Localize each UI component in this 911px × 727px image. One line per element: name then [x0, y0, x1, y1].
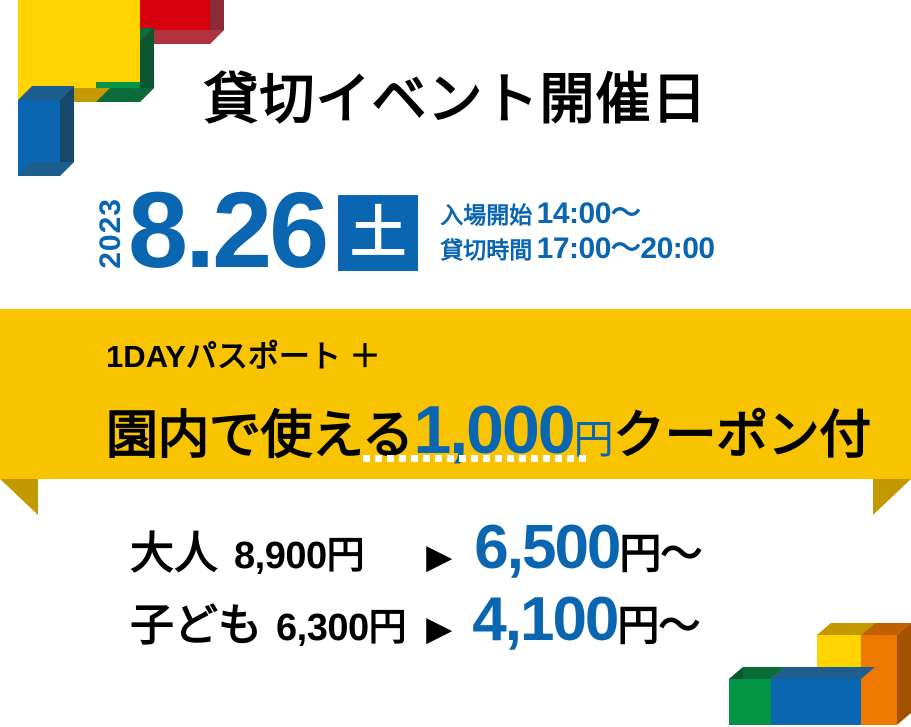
coupon-suffix-text: クーポン付	[613, 407, 871, 465]
schedule-label-private: 貸切時間	[440, 237, 532, 263]
coupon-amount-underline	[363, 455, 591, 462]
price-who-child: 子ども	[130, 589, 262, 653]
block-green-top	[96, 28, 154, 42]
pricing-table: 大人 8,900円 ▶ 6,500円～ 子ども 6,300円 ▶ 4,100円～	[130, 512, 701, 656]
schedule-value-entry: 14:00～	[537, 197, 641, 230]
event-weekday-badge: 土	[338, 195, 418, 271]
page-title: 貸切イベント開催日	[0, 72, 911, 127]
price-old-child: 6,300円	[276, 596, 406, 651]
schedule-value-private: 17:00～20:00	[537, 232, 715, 265]
block-orange-face	[861, 635, 897, 725]
price-new-child: 4,100	[472, 584, 617, 655]
schedule-label-entry: 入場開始	[440, 202, 532, 228]
schedule-line-entry: 入場開始 14:00～	[440, 197, 714, 232]
block-blue-top-br	[771, 667, 875, 679]
price-arrow-icon-child: ▶	[426, 612, 452, 646]
block-yellow-face-br	[817, 635, 861, 679]
bottom-right-block-decoration	[721, 617, 911, 727]
block-blue-face-br	[771, 679, 861, 725]
ribbon-tail-left	[0, 479, 38, 515]
block-green-side-br	[729, 667, 743, 725]
block-red-bottom	[140, 30, 224, 44]
price-row-adult: 大人 8,900円 ▶ 6,500円～	[130, 512, 701, 584]
block-orange-side	[897, 623, 911, 725]
price-row-child: 子ども 6,300円 ▶ 4,100円～	[130, 584, 701, 656]
schedule-line-private: 貸切時間 17:00～20:00	[440, 232, 714, 267]
promo-poster: 貸切イベント開催日 2023 8.26 土 入場開始 14:00～ 貸切時間 1…	[0, 0, 911, 727]
ribbon-passport-label: 1DAYパスポート ＋	[106, 341, 380, 372]
event-month-day: 8.26	[128, 186, 326, 275]
event-year: 2023	[96, 198, 126, 269]
block-blue-bottom	[18, 162, 74, 176]
price-arrow-icon-adult: ▶	[426, 540, 452, 574]
block-orange-top	[861, 623, 911, 635]
ribbon-coupon-line: 園内で使える1,000円クーポン付	[106, 396, 871, 464]
price-who-adult: 大人	[130, 517, 218, 581]
event-schedule: 入場開始 14:00～ 貸切時間 17:00～20:00	[440, 197, 714, 267]
block-green-face-br	[729, 679, 771, 725]
block-green-top-br	[729, 667, 785, 679]
block-red-side	[210, 0, 224, 44]
ribbon-tail-right	[873, 479, 911, 515]
price-new-unit-adult: 円～	[619, 520, 701, 581]
block-yellow-side-br	[817, 623, 831, 679]
block-red-face	[140, 0, 210, 44]
price-new-unit-child: 円～	[617, 592, 699, 653]
block-yellow-top-br	[817, 623, 875, 635]
price-old-adult: 8,900円	[234, 524, 364, 579]
event-date-row: 2023 8.26 土 入場開始 14:00～ 貸切時間 17:00～20:00	[96, 170, 715, 275]
price-new-adult: 6,500	[474, 512, 619, 583]
